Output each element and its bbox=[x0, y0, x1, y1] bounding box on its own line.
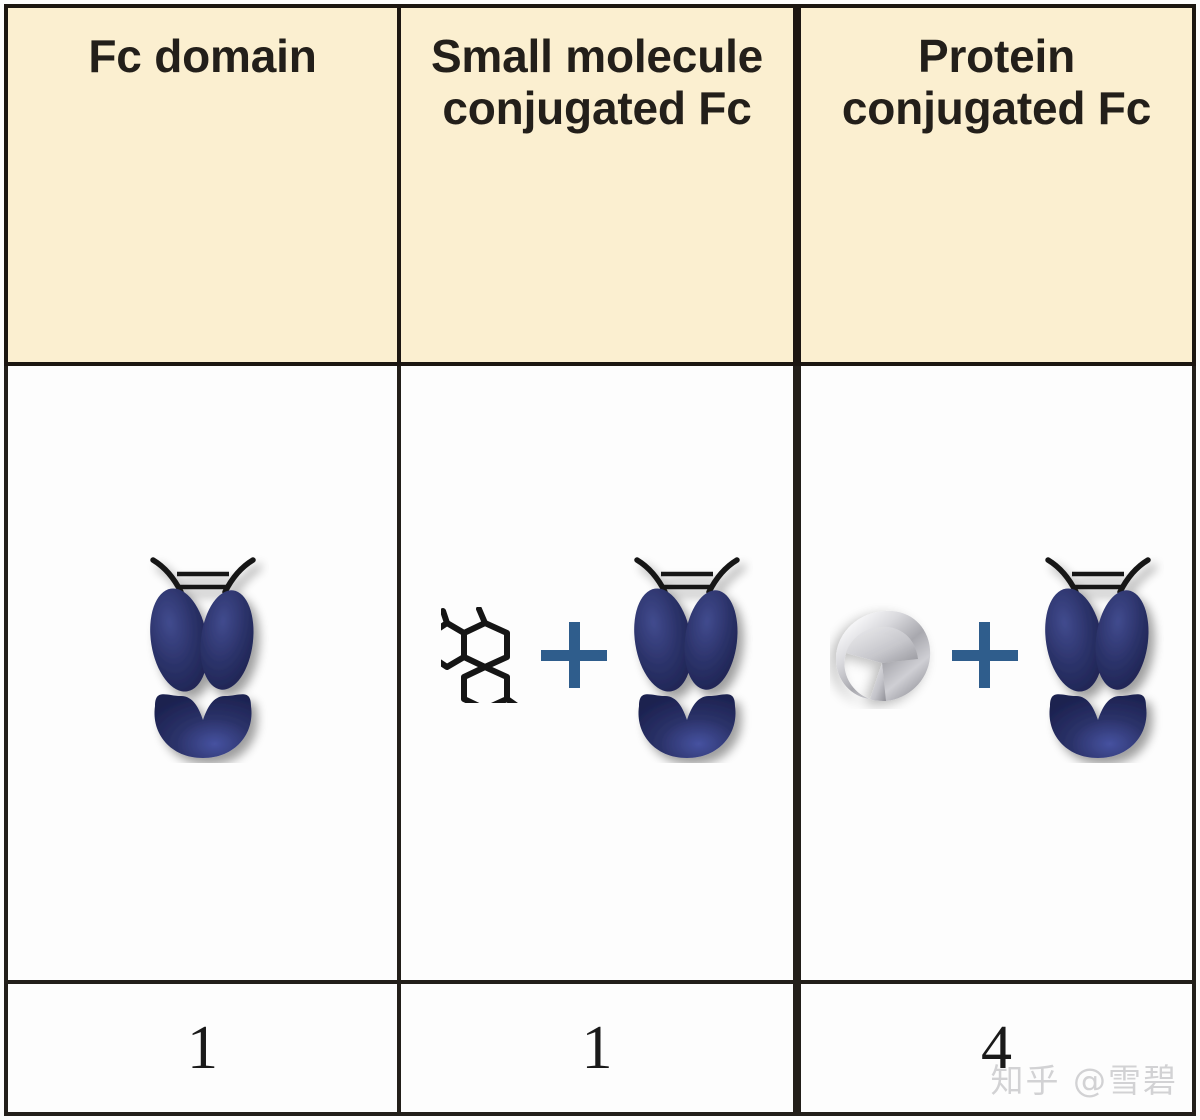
header-cell-fc-domain: Fc domain bbox=[4, 4, 401, 366]
header-label: Protein conjugated Fc bbox=[813, 30, 1181, 134]
diagram-group bbox=[830, 548, 1164, 763]
count-cell-small-molecule-conjugated-fc: 1 bbox=[397, 984, 797, 1116]
count-value: 1 bbox=[187, 1017, 218, 1079]
header-cell-small-molecule-conjugated-fc: Small molecule conjugated Fc bbox=[397, 4, 797, 366]
comparison-table: Fc domain Small molecule conjugated Fc P… bbox=[0, 0, 1200, 1120]
diagram-group bbox=[441, 548, 753, 763]
fc-domain-icon bbox=[1032, 548, 1164, 763]
diagram-cell-small-molecule-conjugated-fc bbox=[397, 366, 797, 984]
count-value: 1 bbox=[582, 1017, 613, 1079]
header-cell-protein-conjugated-fc: Protein conjugated Fc bbox=[797, 4, 1196, 366]
diagram-cell-protein-conjugated-fc bbox=[797, 366, 1196, 984]
header-label: Small molecule conjugated Fc bbox=[413, 30, 781, 134]
diagram-cell-fc-domain bbox=[4, 366, 401, 984]
plus-icon bbox=[541, 622, 607, 688]
diagram-group bbox=[137, 548, 269, 763]
header-label: Fc domain bbox=[20, 30, 386, 82]
fc-domain-icon bbox=[621, 548, 753, 763]
protein-blob-icon bbox=[830, 601, 938, 709]
fc-domain-icon bbox=[137, 548, 269, 763]
plus-icon bbox=[952, 622, 1018, 688]
count-cell-fc-domain: 1 bbox=[4, 984, 401, 1116]
watermark: 知乎 @雪碧 bbox=[991, 1054, 1179, 1102]
small-molecule-icon bbox=[441, 607, 527, 703]
